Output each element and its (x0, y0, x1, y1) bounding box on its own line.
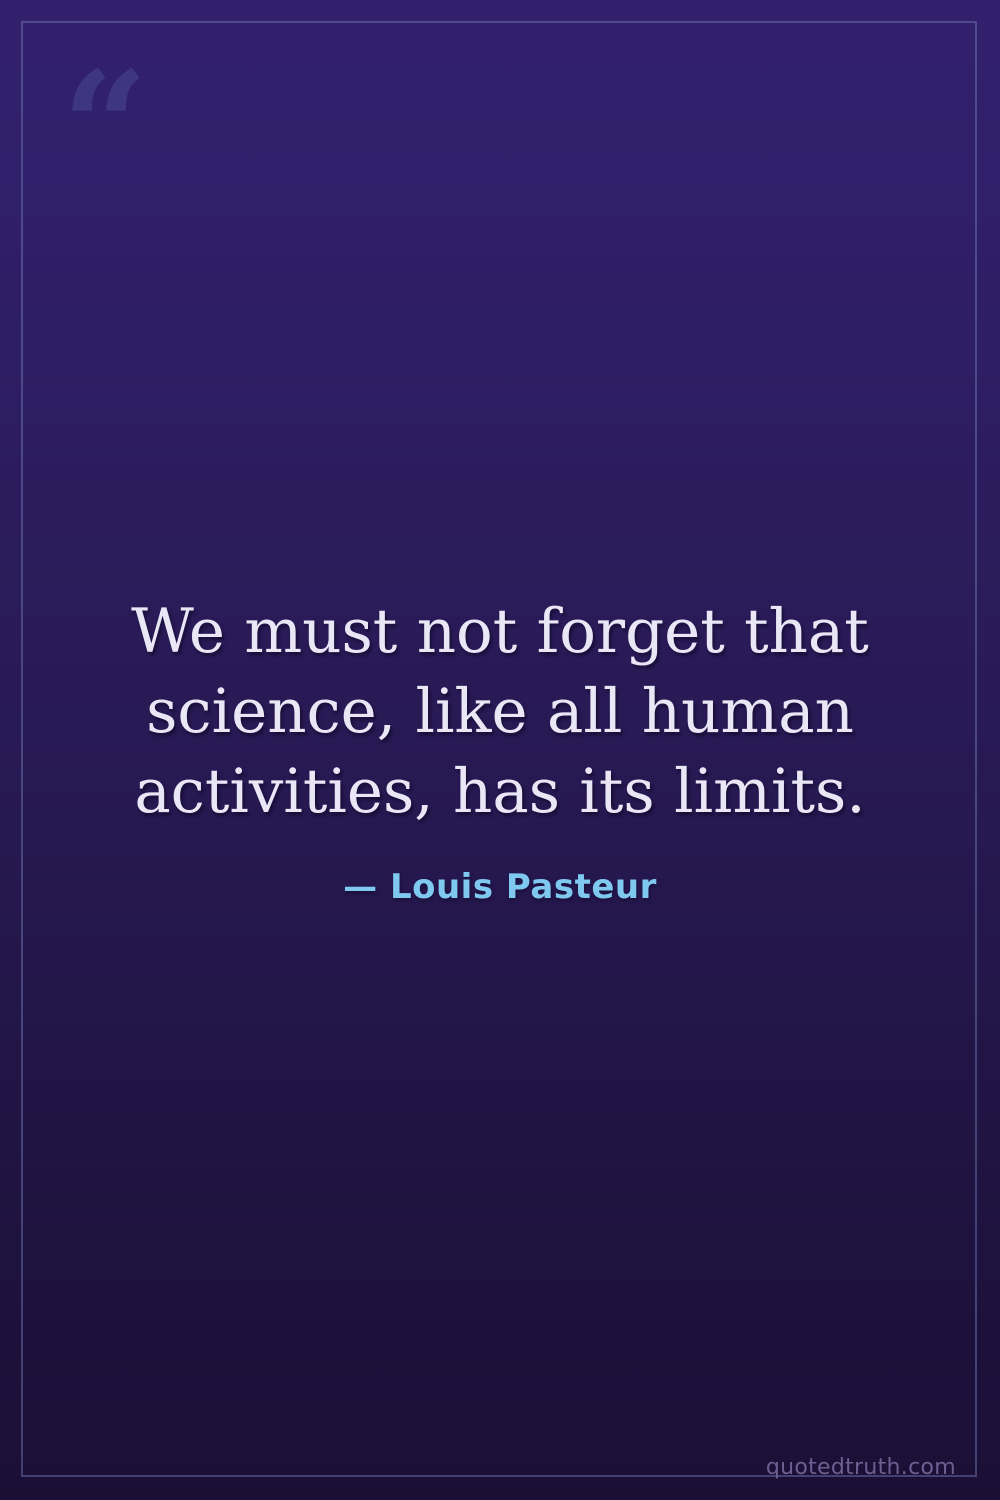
quote-attribution: — Louis Pasteur (343, 866, 657, 908)
quote-text: We must not forget that science, like al… (130, 592, 870, 832)
quote-content-block: We must not forget that science, like al… (0, 0, 1000, 1500)
site-watermark: quotedtruth.com (766, 1455, 956, 1481)
quote-card: “ We must not forget that science, like … (0, 0, 1000, 1500)
